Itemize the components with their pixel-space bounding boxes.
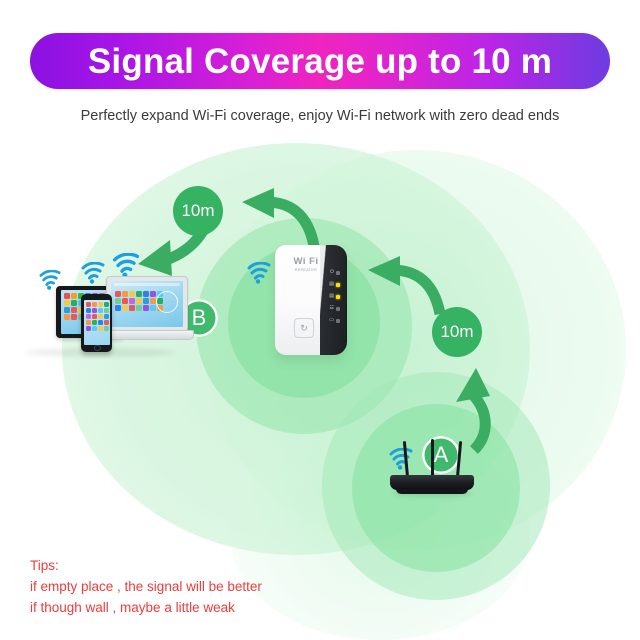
phone-app-grid bbox=[86, 302, 109, 331]
repeater-logo: Wi Fi REPEATER bbox=[285, 257, 327, 272]
led-row: ⏻ bbox=[324, 269, 340, 276]
led-row: ▤ bbox=[324, 293, 340, 300]
page-title: Signal Coverage up to 10 m bbox=[88, 44, 552, 79]
laptop-taskbar bbox=[114, 283, 180, 286]
power-icon: ⏻ bbox=[330, 270, 334, 275]
wps-button[interactable]: ↻ bbox=[294, 318, 314, 338]
tips-line-2: if though wall , maybe a little weak bbox=[30, 598, 262, 619]
laptop-widget bbox=[156, 291, 178, 313]
tips-block: Tips: if empty place , the signal will b… bbox=[30, 556, 262, 619]
led-indicator bbox=[336, 319, 340, 323]
distance-badge-right: 10m bbox=[432, 307, 482, 357]
wps-icon: ↻ bbox=[300, 323, 308, 334]
client-devices-group bbox=[28, 272, 193, 354]
tips-line-1: if empty place , the signal will be bett… bbox=[30, 577, 262, 598]
led-indicator bbox=[336, 295, 340, 299]
signal-icon: ▤ bbox=[329, 282, 334, 287]
point-b-label: B bbox=[192, 305, 207, 331]
led-row: ☳ bbox=[324, 305, 340, 312]
smartphone-device bbox=[81, 294, 112, 352]
distance-badge-left: 10m bbox=[173, 186, 223, 236]
phone-screen bbox=[84, 300, 110, 345]
laptop-device bbox=[100, 276, 192, 350]
wireless-icon: ☳ bbox=[330, 306, 334, 311]
laptop-base bbox=[100, 330, 194, 340]
repeater-led-panel: ⏻ ▤ ▤ ☳ ▭ bbox=[324, 269, 340, 329]
laptop-lid bbox=[106, 276, 188, 332]
phone-home-button bbox=[94, 345, 101, 351]
distance-badge-left-label: 10m bbox=[181, 201, 214, 221]
router-antenna bbox=[403, 441, 409, 477]
wifi-signal-icon-repeater bbox=[246, 262, 272, 284]
led-indicator bbox=[336, 283, 340, 287]
router-antenna bbox=[456, 441, 462, 477]
distance-badge-right-label: 10m bbox=[440, 322, 473, 342]
wifi-repeater-device: Wi Fi REPEATER ↻ ⏻ ▤ ▤ ☳ ▭ bbox=[275, 245, 347, 355]
router-antenna bbox=[431, 439, 434, 477]
signal-icon: ▤ bbox=[329, 294, 334, 299]
tips-heading: Tips: bbox=[30, 556, 262, 577]
wifi-router-device bbox=[390, 438, 474, 490]
led-indicator bbox=[336, 307, 340, 311]
laptop-screen bbox=[111, 281, 183, 327]
led-row: ▭ bbox=[324, 317, 340, 324]
led-indicator bbox=[336, 271, 340, 275]
header-banner: Signal Coverage up to 10 m bbox=[30, 33, 610, 89]
ethernet-icon: ▭ bbox=[329, 318, 334, 323]
led-row: ▤ bbox=[324, 281, 340, 288]
router-chassis bbox=[390, 475, 474, 490]
repeater-logo-sub: REPEATER bbox=[285, 268, 327, 272]
infographic-canvas: Signal Coverage up to 10 m Perfectly exp… bbox=[0, 0, 640, 640]
repeater-logo-main: Wi Fi bbox=[285, 257, 327, 267]
page-subtitle: Perfectly expand Wi-Fi coverage, enjoy W… bbox=[0, 108, 640, 124]
